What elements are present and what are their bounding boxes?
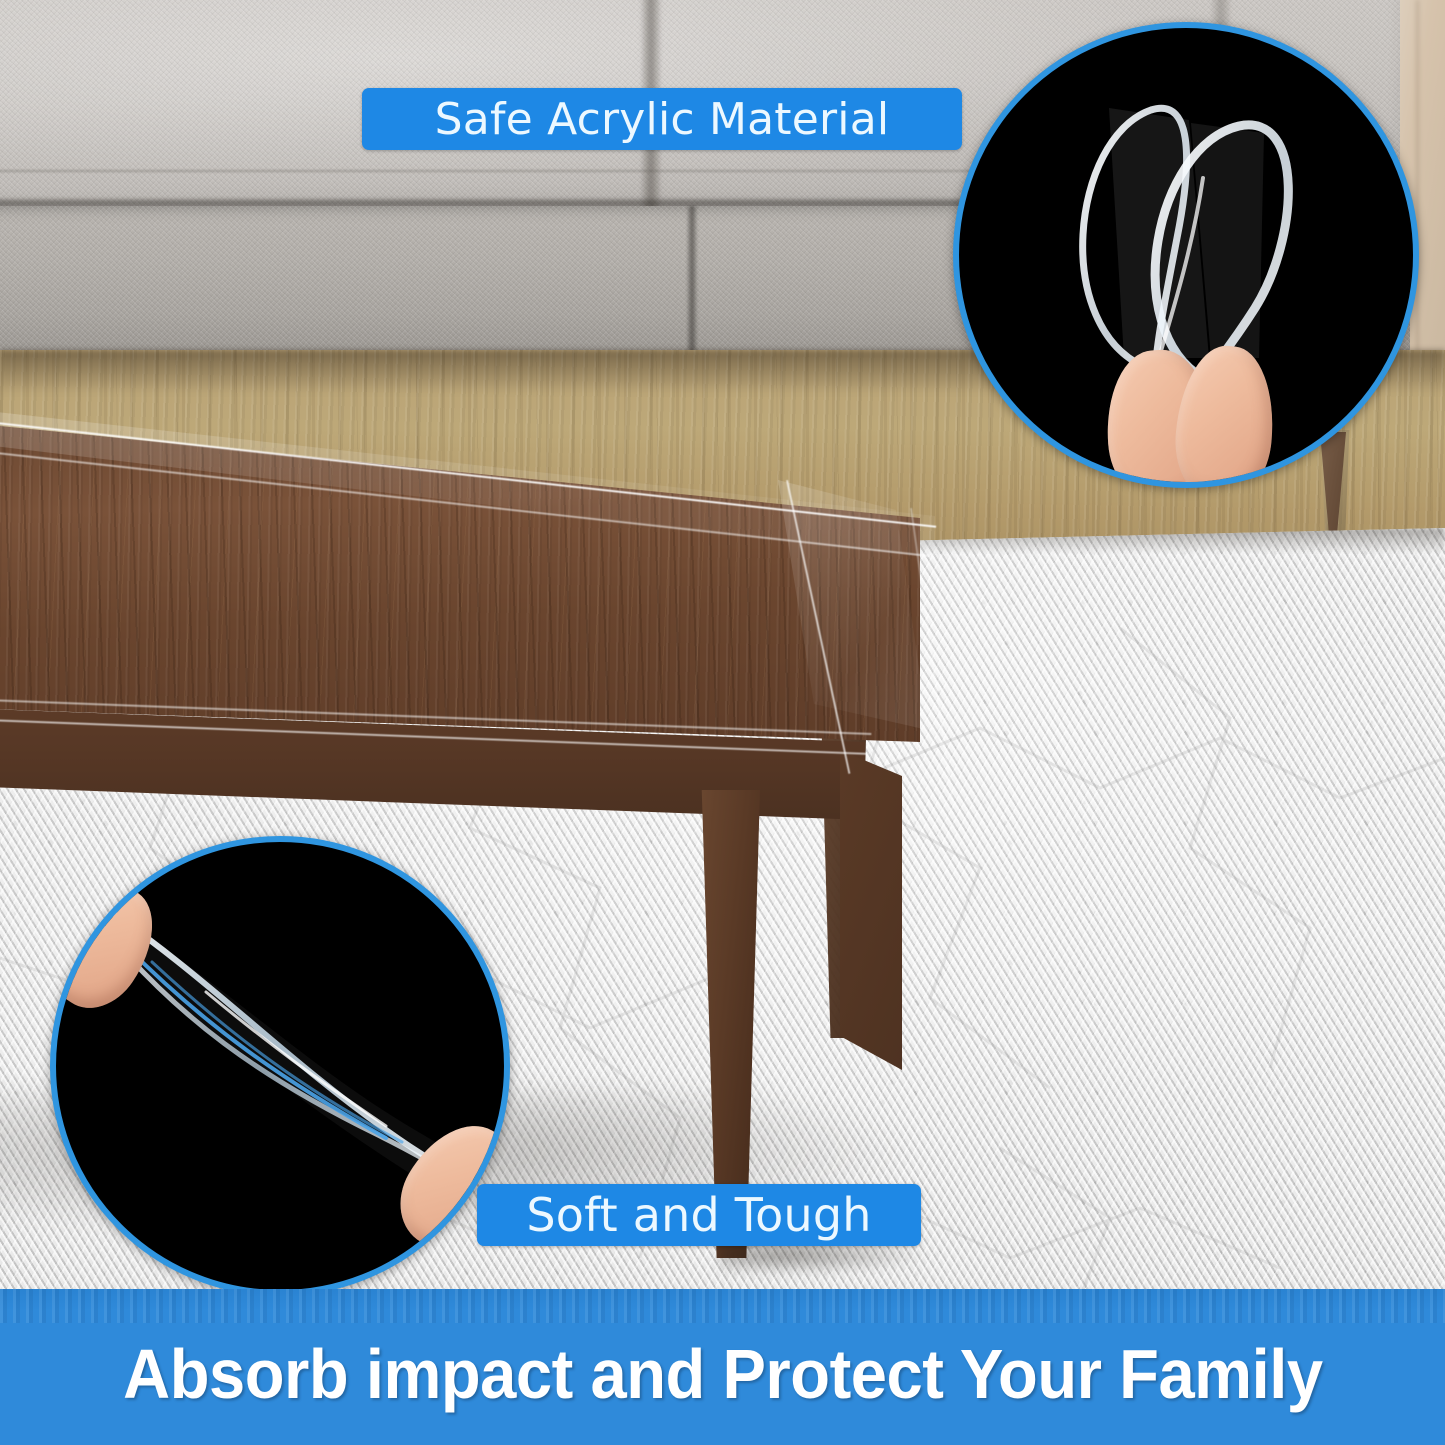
table-apron-side [840,750,932,1120]
badge-safe-acrylic-material: Safe Acrylic Material [362,88,962,150]
product-image-canvas: Safe Acrylic Material Soft and Tough Abs… [0,0,1445,1445]
banner-top-texture [0,1289,1445,1323]
inset-safe-acrylic-material [953,22,1419,488]
badge-soft-and-tough: Soft and Tough [477,1184,921,1246]
inset-soft-and-tough [50,836,510,1296]
bottom-banner: Absorb impact and Protect Your Family [0,1289,1445,1445]
banner-headline: Absorb impact and Protect Your Family [123,1334,1322,1414]
